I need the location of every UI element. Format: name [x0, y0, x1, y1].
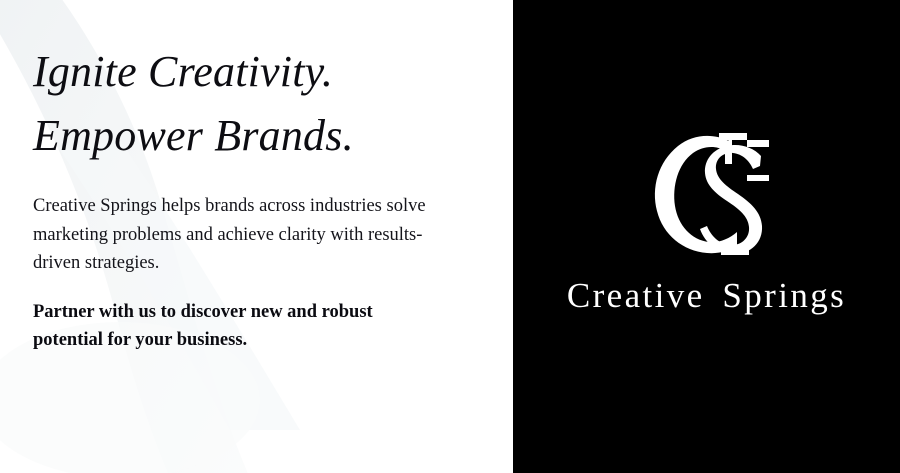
body-paragraph: Creative Springs helps brands across ind… — [33, 168, 465, 276]
brand-hero-slide: Ignite Creativity. Empower Brands. Creat… — [0, 0, 900, 473]
wordmark-word-springs: Springs — [722, 276, 846, 315]
cta-paragraph: Partner with us to discover new and robu… — [33, 277, 443, 354]
page-title: Ignite Creativity. Empower Brands. — [33, 0, 483, 168]
left-text-stack: Ignite Creativity. Empower Brands. Creat… — [0, 0, 513, 354]
brand-wordmark: Creative Springs — [567, 278, 846, 313]
cs-monogram-logo-icon — [643, 128, 771, 260]
logo-panel: Creative Springs — [513, 0, 900, 473]
left-content-panel: Ignite Creativity. Empower Brands. Creat… — [0, 0, 513, 473]
wordmark-word-creative: Creative — [567, 276, 705, 315]
